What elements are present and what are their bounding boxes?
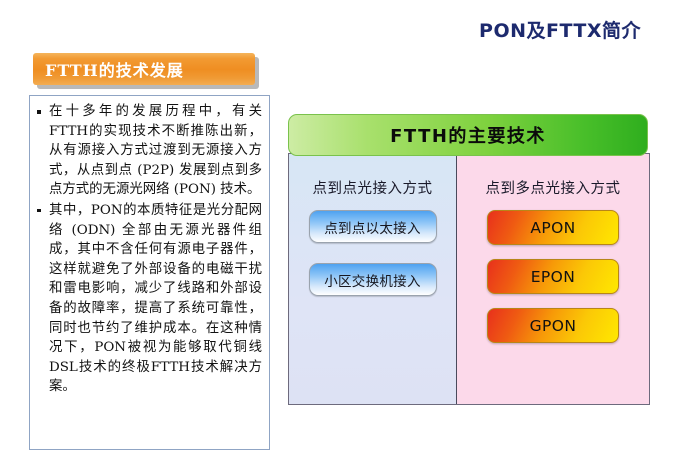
- diagram-body: 点到点光接入方式 点到点以太接入 小区交换机接入 点到多点光接入方式 APON …: [288, 153, 650, 405]
- diagram-header: FTTH的主要技术: [288, 114, 648, 156]
- tech-item-p2p-ethernet-label: 点到点以太接入: [324, 217, 421, 237]
- section-banner-body: FTTH的技术发展: [33, 53, 255, 85]
- column-point-to-multipoint: 点到多点光接入方式 APON EPON GPON: [457, 154, 649, 404]
- tech-item-epon-label: EPON: [531, 268, 576, 286]
- diagram-header-label: FTTH的主要技术: [390, 122, 546, 148]
- ftth-technology-diagram: FTTH的主要技术 点到点光接入方式 点到点以太接入 小区交换机接入 点到多点光…: [288, 114, 650, 405]
- section-banner: FTTH的技术发展: [33, 53, 255, 85]
- tech-item-gpon[interactable]: GPON: [487, 308, 619, 343]
- tech-item-epon[interactable]: EPON: [487, 259, 619, 294]
- column-heading-point-to-point: 点到点光接入方式: [313, 177, 433, 198]
- bullet-item: 其中，PON的本质特征是光分配网络 (ODN) 全部由无源光器件组成，其中不含任…: [36, 201, 262, 397]
- column-point-to-point: 点到点光接入方式 点到点以太接入 小区交换机接入: [289, 154, 457, 404]
- body-textbox: 在十多年的发展历程中，有关FTTH的实现技术不断推陈出新，从有源接入方式过渡到无…: [29, 95, 270, 450]
- tech-item-p2p-ethernet[interactable]: 点到点以太接入: [309, 210, 437, 243]
- tech-item-community-switch-label: 小区交换机接入: [324, 270, 421, 290]
- section-banner-label: FTTH的技术发展: [33, 57, 184, 81]
- bullet-item: 在十多年的发展历程中，有关FTTH的实现技术不断推陈出新，从有源接入方式过渡到无…: [36, 102, 262, 200]
- tech-item-apon-label: APON: [530, 219, 575, 237]
- bullet-list: 在十多年的发展历程中，有关FTTH的实现技术不断推陈出新，从有源接入方式过渡到无…: [36, 102, 262, 397]
- tech-item-apon[interactable]: APON: [487, 210, 619, 245]
- page-title: PON及FTTX简介: [450, 16, 670, 43]
- tech-item-community-switch[interactable]: 小区交换机接入: [309, 263, 437, 296]
- tech-item-gpon-label: GPON: [530, 317, 577, 335]
- column-heading-point-to-multipoint: 点到多点光接入方式: [486, 177, 621, 198]
